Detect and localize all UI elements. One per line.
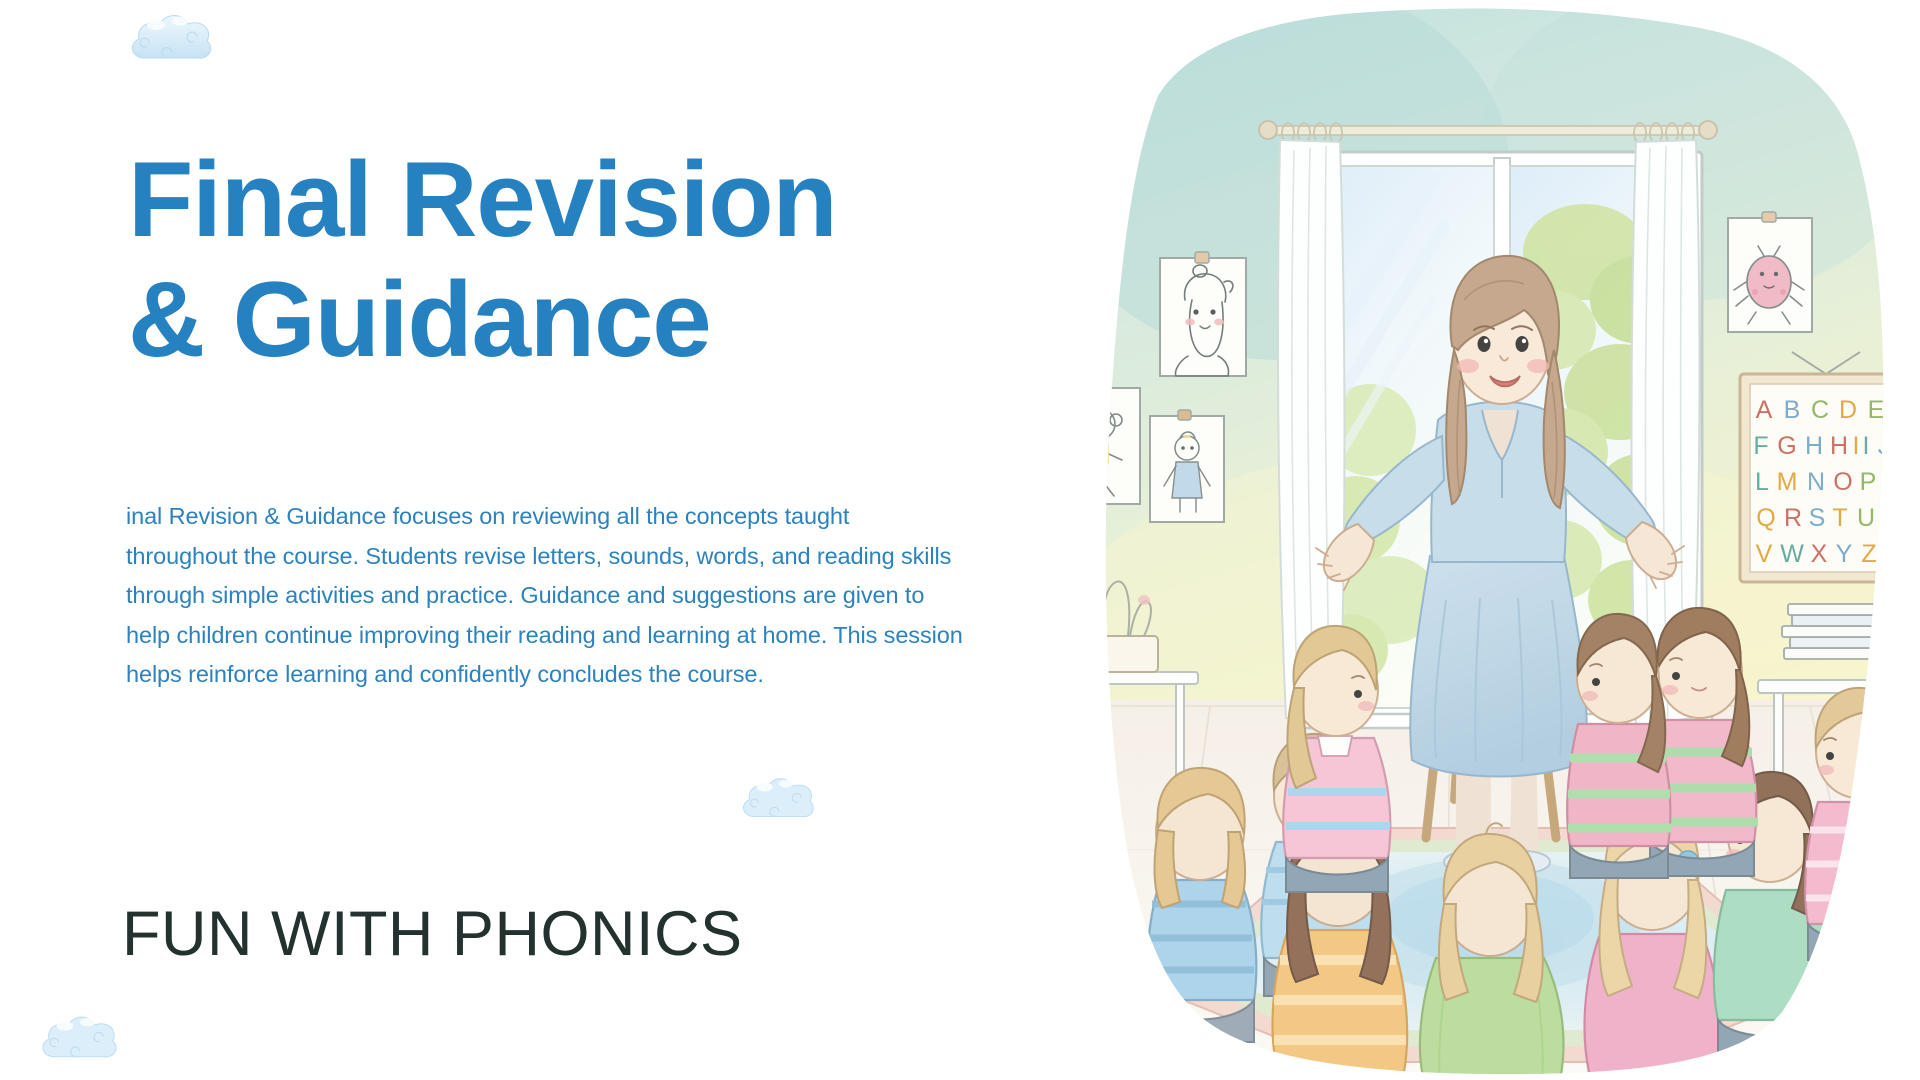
illustration-scene: A B C D E F G H H I I J L M N [1040, 0, 1920, 1080]
cloud-icon [737, 772, 819, 830]
slide-root: Final Revision & Guidance inal Revision … [0, 0, 1920, 1080]
classroom-illustration-svg: A B C D E F G H H I I J L M N [1040, 0, 1920, 1080]
left-text-column: Final Revision & Guidance inal Revision … [0, 0, 1040, 1080]
classroom-illustration: A B C D E F G H H I I J L M N [1040, 0, 1920, 1080]
brand-name: FUN WITH PHONICS [122, 903, 742, 966]
page-title: Final Revision & Guidance [128, 140, 968, 380]
cloud-icon [125, 8, 217, 74]
svg-text:Q: Q [1881, 468, 1900, 496]
cloud-icon [36, 1010, 122, 1072]
body-paragraph: inal Revision & Guidance focuses on revi… [126, 497, 966, 695]
